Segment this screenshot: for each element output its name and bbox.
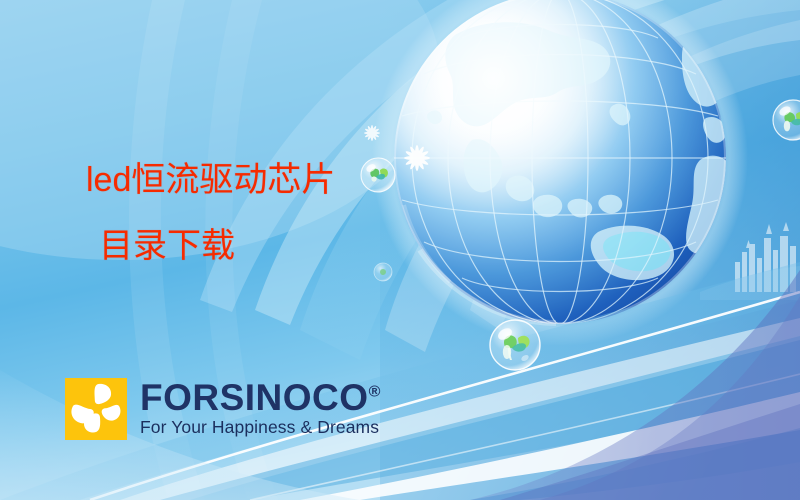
registered-trademark-icon: ® [369,384,381,401]
logo-text-block: FORSINOCO® For Your Happiness & Dreams [140,380,381,437]
brand-name-text: FORSINOCO [140,377,369,418]
brand-tagline: For Your Happiness & Dreams [140,418,381,437]
brand-name: FORSINOCO® [140,380,381,415]
company-logo: FORSINOCO® For Your Happiness & Dreams [65,378,381,440]
four-petal-flower-icon [65,378,127,440]
headline-line-1: led恒流驱动芯片 [86,163,335,197]
banner-canvas: led恒流驱动芯片 目录下载 FORSINOCO® For Your Happ [0,0,800,500]
bubble-edge-sliver [374,263,392,281]
logo-mark [65,378,127,440]
headline-line-2: 目录下载 [99,229,235,263]
bubble-small-left [361,158,395,192]
bubble-large-center [490,320,540,370]
